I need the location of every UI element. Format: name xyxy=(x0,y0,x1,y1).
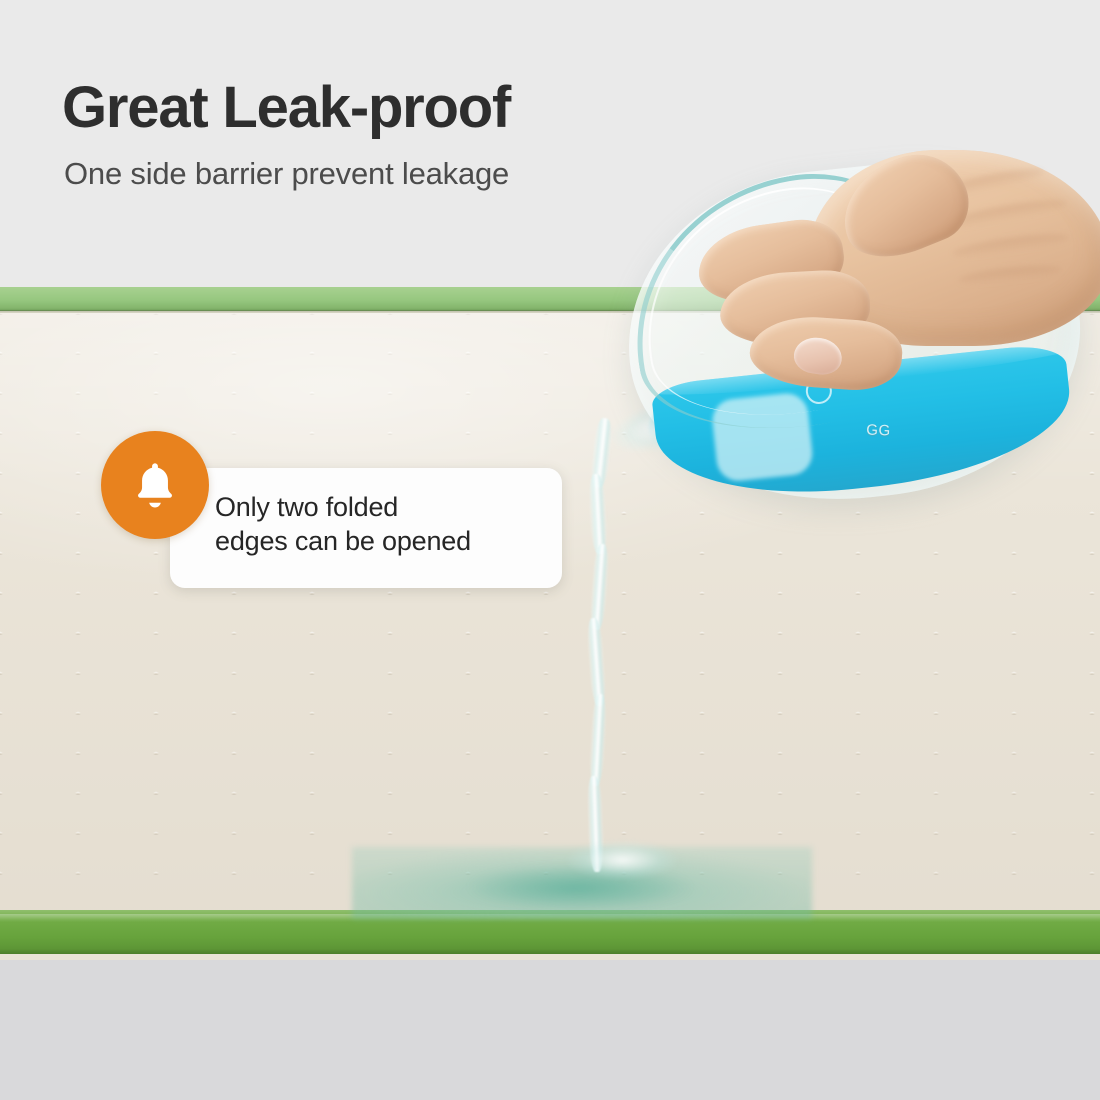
page-title: Great Leak-proof xyxy=(62,74,510,141)
callout-label: Only two folded edges can be opened xyxy=(215,490,555,558)
hand xyxy=(690,150,1100,410)
water-stream xyxy=(583,418,619,868)
bell-icon-badge xyxy=(101,431,209,539)
water-impact-splash xyxy=(560,836,680,884)
page-subtitle: One side barrier prevent leakage xyxy=(64,156,509,192)
beaker-brand-mark: GG xyxy=(866,422,891,440)
page-bottom-background xyxy=(0,960,1100,1100)
bell-icon xyxy=(128,457,182,513)
product-feature-image: Great Leak-proof One side barrier preven… xyxy=(0,0,1100,1100)
